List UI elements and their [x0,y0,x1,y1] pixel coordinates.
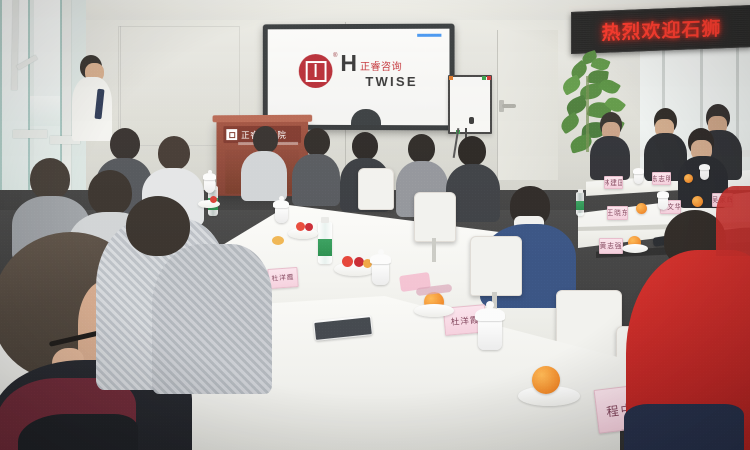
logo-chinese-name: 正睿咨询 [360,63,402,74]
teacup-knob [279,196,284,201]
teacup-lid [657,191,669,198]
teacup-knob [208,170,212,174]
fruit [210,196,217,203]
teacup [204,178,215,193]
orange [692,196,703,207]
attendee-grey [152,244,272,394]
chair-leg [432,238,436,262]
attendee-head [126,196,190,256]
name-card: 陈志明 [652,172,671,185]
teacup [478,318,502,350]
fruit [296,222,305,231]
teacup-knob [378,249,384,255]
attendee-jeans [624,404,744,450]
registered-trademark-icon: ® [333,53,337,59]
silhouette-in-front-of-screen [351,109,381,125]
teacup-lid [475,308,505,321]
teacup-lid [203,173,216,180]
fruit [342,256,353,267]
fruit [272,236,284,245]
door-handle-icon[interactable] [502,104,516,108]
screen-status-bar [417,34,441,37]
attendee-red-upper [716,186,750,256]
logo-letter-h: H [340,54,357,74]
logo-emblem-icon: ® [299,54,333,88]
logo-english-name: TWISE [365,75,417,88]
teacup-lid [370,254,391,264]
easel-knob [469,117,474,124]
teacup-lid [633,168,644,174]
name-card: 杜洋霞 [267,267,298,289]
fruit-plate [198,200,220,208]
teacup-lid [273,200,289,208]
orange [684,174,693,183]
name-card: 王晓东 [607,206,628,220]
water-bottle [576,192,584,216]
podium-logo-icon [226,129,237,140]
teacup [372,262,389,285]
fruit-plate [414,304,454,317]
teacup-knob [486,301,494,309]
name-card: 黄志强 [599,238,623,254]
teacup [658,196,668,210]
name-card: 林建国 [604,176,623,189]
teacup-lid [699,164,710,170]
fruit-plate [622,244,648,253]
fruit [305,223,313,231]
chair[interactable] [470,236,522,296]
chair[interactable] [414,192,456,242]
teacup [275,206,288,223]
screen-surface: ® H 正睿咨询 TWISE [268,29,450,126]
company-logo: ® H 正睿咨询 TWISE [299,54,418,88]
podium-top-surface [213,115,313,123]
logo-wordmark: H 正睿咨询 TWISE [340,54,417,88]
led-welcome-banner: 热烈欢迎石狮 [571,5,750,54]
meeting-room-photo: 热烈欢迎石狮 ® H 正睿咨询 TWISE [0,0,750,450]
orange [532,366,560,394]
orange [636,203,647,214]
chair[interactable] [358,168,394,210]
flipchart-easel [448,75,492,134]
wall-seam-secondary [120,26,121,144]
water-bottle [318,222,332,264]
led-banner-text: 热烈欢迎石狮 [601,14,721,46]
